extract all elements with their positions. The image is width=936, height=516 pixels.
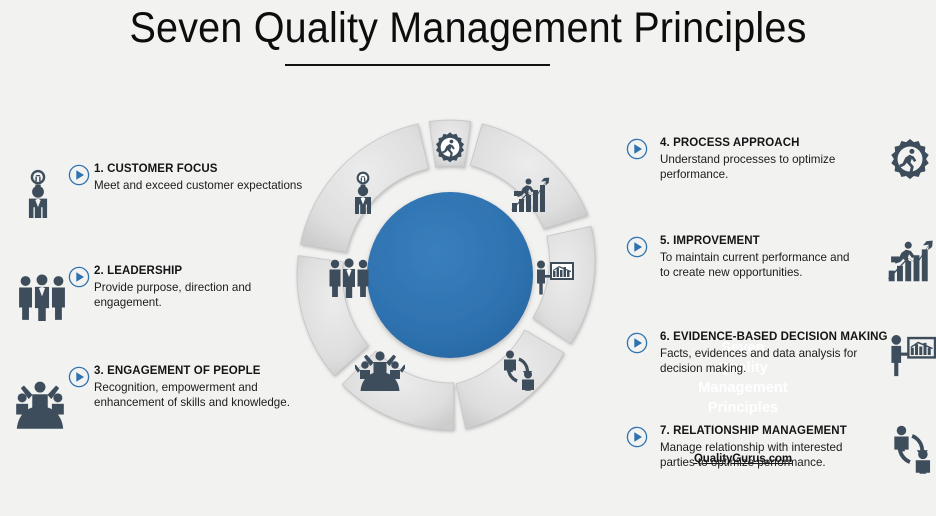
right-principles-column: 4. PROCESS APPROACH Understand processes… [626, 134, 928, 516]
principle-heading: 5. IMPROVEMENT [660, 234, 856, 249]
wheel-icon-gear-person-icon [432, 130, 468, 166]
principle-body: To maintain current performance and to c… [660, 250, 856, 280]
principle-body: Recognition, empowerment and enhancement… [94, 380, 308, 410]
person-lightbulb-icon [16, 168, 68, 220]
principle-item-3[interactable]: 3. ENGAGEMENT OF PEOPLE Recognition, emp… [8, 364, 308, 438]
wheel-icon-people-raised-arms-icon [355, 350, 405, 392]
three-people-icon [16, 274, 68, 326]
principle-item-7[interactable]: 7. RELATIONSHIP MANAGEMENT Manage relati… [626, 424, 928, 498]
people-raised-arms-icon [10, 380, 72, 432]
principle-body: Meet and exceed customer expectations [94, 178, 308, 193]
infographic-canvas: Seven Quality Management Principles [0, 0, 936, 462]
principle-item-6[interactable]: 6. EVIDENCE-BASED DECISION MAKING Facts,… [626, 330, 928, 404]
principle-body: Provide purpose, direction and engagemen… [94, 280, 308, 310]
principle-item-4[interactable]: 4. PROCESS APPROACH Understand processes… [626, 136, 928, 210]
title-underline-rule [285, 64, 550, 66]
principle-heading: 2. LEADERSHIP [94, 264, 308, 279]
gear-person-icon [886, 136, 934, 184]
principle-heading: 7. RELATIONSHIP MANAGEMENT [660, 424, 864, 439]
play-circle-icon[interactable] [626, 138, 648, 160]
play-circle-icon[interactable] [68, 266, 90, 288]
play-circle-icon[interactable] [626, 236, 648, 258]
two-people-arrows-icon [886, 424, 936, 474]
principle-item-2[interactable]: 2. LEADERSHIP Provide purpose, direction… [8, 264, 308, 338]
wheel-icon-three-people-icon [327, 258, 371, 298]
principle-heading: 3. ENGAGEMENT OF PEOPLE [94, 364, 308, 379]
play-circle-icon[interactable] [626, 332, 648, 354]
principle-item-1[interactable]: 1. CUSTOMER FOCUS Meet and exceed custom… [8, 162, 308, 236]
play-circle-icon[interactable] [626, 426, 648, 448]
page-title: Seven Quality Management Principles [37, 4, 898, 53]
wheel-icon-presenter-chart-icon [533, 258, 575, 296]
presenter-chart-icon [886, 332, 936, 378]
principle-body: Facts, evidences and data analysis for d… [660, 346, 862, 376]
wheel-icon-person-lightbulb-icon [344, 170, 382, 214]
principle-heading: 1. CUSTOMER FOCUS [94, 162, 308, 177]
play-circle-icon[interactable] [68, 366, 90, 388]
wheel-core-circle[interactable] [367, 192, 533, 358]
principle-body: Understand processes to optimize perform… [660, 152, 856, 182]
play-circle-icon[interactable] [68, 164, 90, 186]
principle-heading: 4. PROCESS APPROACH [660, 136, 856, 151]
left-principles-column: 1. CUSTOMER FOCUS Meet and exceed custom… [8, 160, 308, 456]
wheel-icon-two-people-arrows-icon [497, 349, 539, 391]
principle-item-5[interactable]: 5. IMPROVEMENT To maintain current perfo… [626, 234, 928, 308]
principle-heading: 6. EVIDENCE-BASED DECISION MAKING [660, 330, 862, 345]
seven-principles-wheel: Seven Quality Management Principles Qual… [293, 110, 607, 440]
principle-body: Manage relationship with interested part… [660, 440, 864, 470]
wheel-icon-growth-chart-person-icon [508, 172, 552, 216]
growth-chart-person-icon [884, 234, 936, 286]
